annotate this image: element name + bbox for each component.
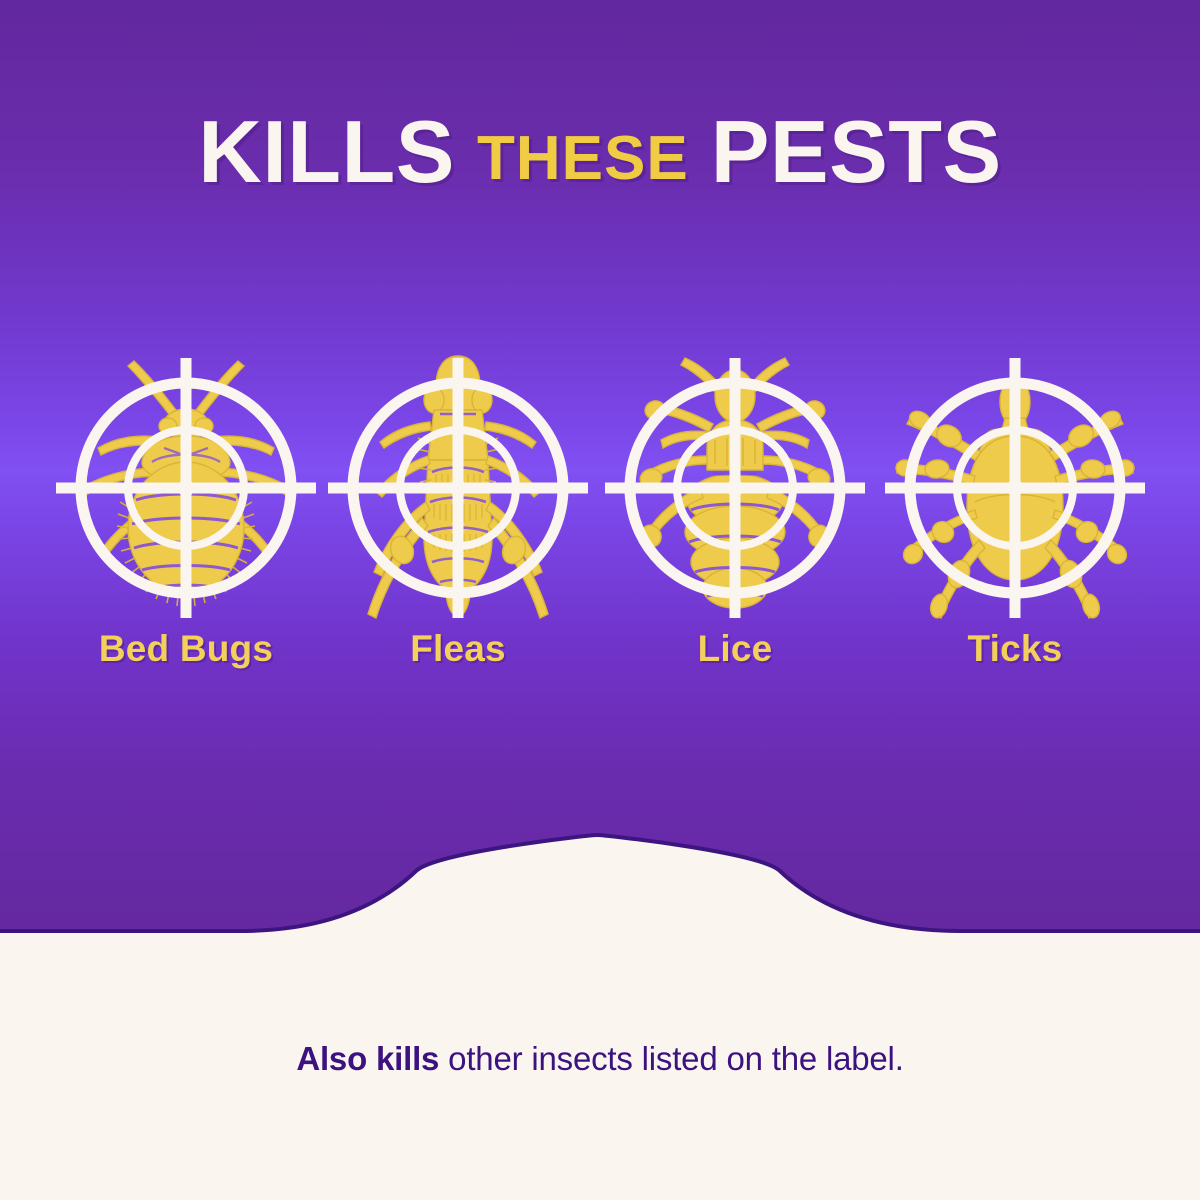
pest-item-ticks[interactable]: Ticks: [875, 352, 1155, 692]
pest-label-lice: Lice: [595, 628, 875, 670]
pest-label-bed-bugs: Bed Bugs: [46, 628, 326, 670]
footer-note-rest: other insects listed on the label.: [439, 1040, 903, 1077]
title-word-pests: PESTS: [711, 104, 1002, 200]
tick-in-crosshair-icon: [875, 352, 1155, 624]
pest-label-fleas: Fleas: [318, 628, 598, 670]
pest-control-infographic: KILLSTHESEPESTS: [0, 0, 1200, 1200]
footer-note-bold: Also kills: [296, 1040, 439, 1077]
hero-bottom-peak-shape: [0, 800, 1200, 940]
flea-in-crosshair-icon: [318, 352, 598, 624]
page-title: KILLSTHESEPESTS: [0, 104, 1200, 210]
title-word-these: THESE: [477, 111, 689, 207]
pest-item-fleas[interactable]: Fleas: [318, 352, 598, 692]
pest-item-lice[interactable]: Lice: [595, 352, 875, 692]
bed-bug-in-crosshair-icon: [46, 352, 326, 624]
pest-label-ticks: Ticks: [875, 628, 1155, 670]
pest-item-bed-bugs[interactable]: Bed Bugs: [46, 352, 326, 692]
footer-note: Also kills other insects listed on the l…: [0, 1040, 1200, 1078]
louse-in-crosshair-icon: [595, 352, 875, 624]
title-word-kills: KILLS: [198, 104, 455, 200]
pest-list: Bed Bugs: [0, 352, 1200, 692]
